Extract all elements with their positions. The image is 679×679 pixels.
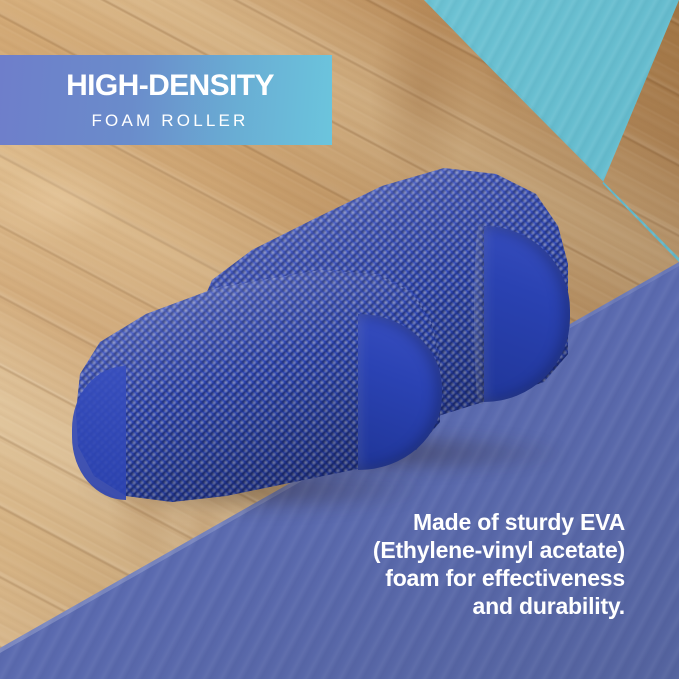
caption-line-1: Made of sturdy EVA <box>325 508 625 536</box>
product-marketing-image: HIGH-DENSITY FOAM ROLLER Made of sturdy … <box>0 0 679 679</box>
caption-block: Made of sturdy EVA (Ethylene-vinyl aceta… <box>325 508 625 620</box>
foam-roller-front <box>76 270 440 502</box>
banner-title: HIGH-DENSITY <box>66 71 274 101</box>
caption-line-4: and durability. <box>325 592 625 620</box>
header-banner: HIGH-DENSITY FOAM ROLLER <box>0 55 332 145</box>
caption-line-3: foam for effectiveness <box>325 564 625 592</box>
banner-subtitle: FOAM ROLLER <box>91 112 248 129</box>
caption-line-2: (Ethylene-vinyl acetate) <box>325 536 625 564</box>
